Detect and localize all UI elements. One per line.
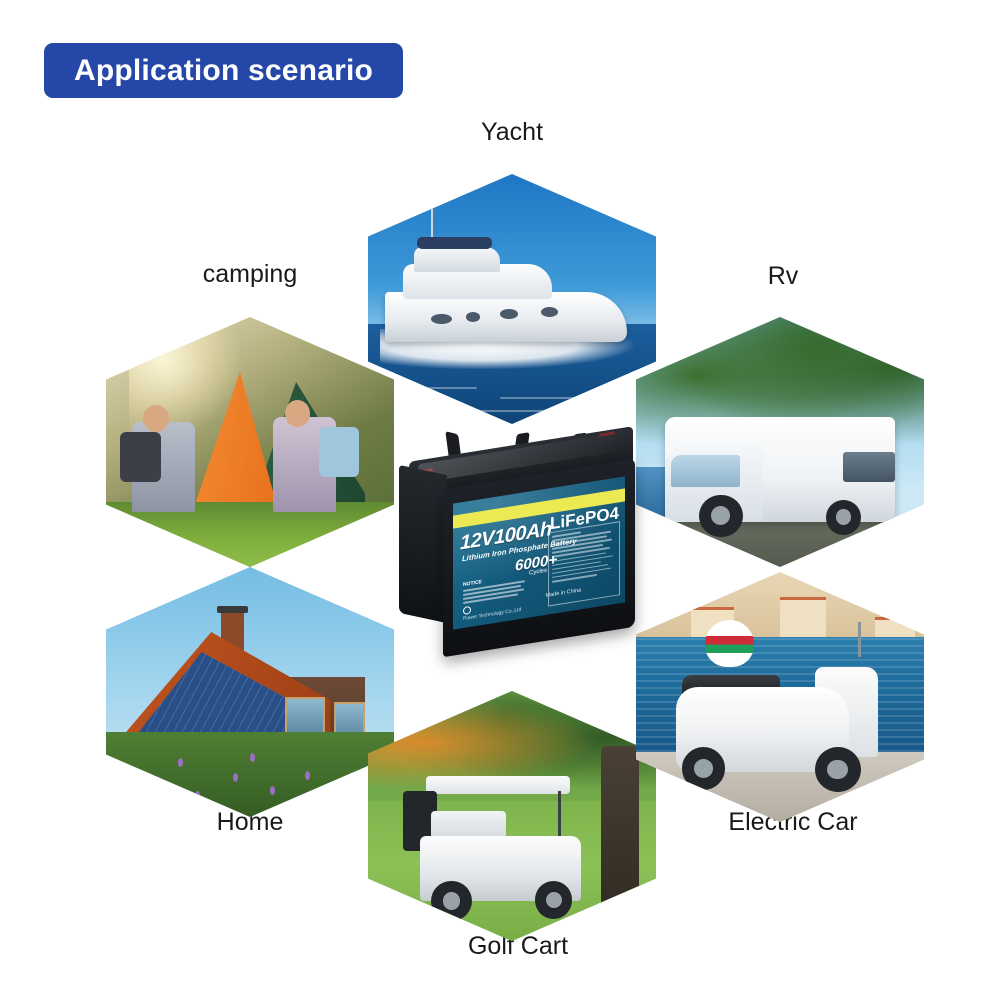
battery-label: 12V100Ah Lithium Iron Phosphate Battery … <box>453 476 625 629</box>
battery-side-face <box>399 465 447 623</box>
home-photo <box>106 567 394 817</box>
electric-car-photo <box>636 572 924 822</box>
scenario-hex-electric-car[interactable] <box>636 572 924 822</box>
rv-photo <box>636 317 924 567</box>
golf-cart-photo <box>368 691 656 941</box>
product-battery-image: 12V100Ah Lithium Iron Phosphate Battery … <box>383 434 651 656</box>
battery-company: Power Technology Co.,Ltd <box>463 607 521 622</box>
scenario-label-yacht: Yacht <box>407 118 617 147</box>
scenario-hex-home[interactable] <box>106 567 394 817</box>
page-title: Application scenario <box>74 54 373 88</box>
battery-notice-block: NOTICE <box>463 572 525 606</box>
scenario-hex-camping[interactable] <box>106 317 394 567</box>
scenario-hex-golf-cart[interactable] <box>368 691 656 941</box>
application-scenario-badge: Application scenario <box>44 43 403 98</box>
camping-photo <box>106 317 394 567</box>
yacht-photo <box>368 174 656 424</box>
scenario-label-camping: camping <box>145 260 355 289</box>
battery-cycles-unit: Cycles <box>529 568 547 577</box>
scenario-hex-yacht[interactable] <box>368 174 656 424</box>
scenario-label-rv: Rv <box>678 262 888 291</box>
scenario-hex-rv[interactable] <box>636 317 924 567</box>
battery-front-face: 12V100Ah Lithium Iron Phosphate Battery … <box>443 459 635 657</box>
recycle-icon <box>463 606 471 615</box>
